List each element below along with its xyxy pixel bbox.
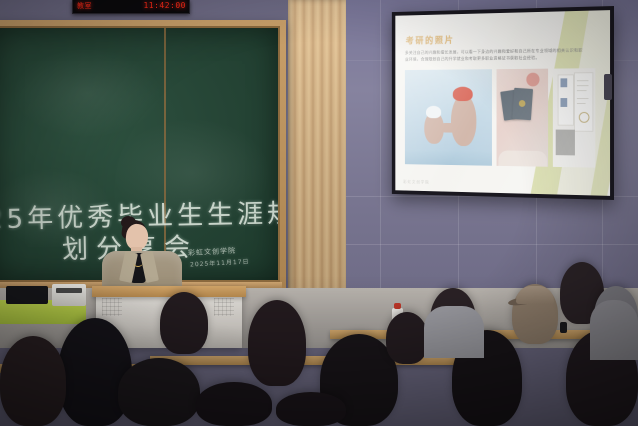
led-ticker-display: 教室 11:42:00 <box>72 0 190 14</box>
screen-wall-mount <box>604 74 612 100</box>
gray-sweater <box>424 306 484 358</box>
photo-certificates <box>497 69 549 167</box>
student-dark-front-left <box>118 358 200 426</box>
blackboard-signature: 彩虹文创学院 <box>188 246 236 258</box>
student-center-back <box>160 292 208 354</box>
slide-title: 考研的照片 <box>406 33 455 46</box>
student-ponytail-center <box>248 300 306 386</box>
student-ponytail-left <box>0 336 66 426</box>
baseball-cap <box>516 286 554 304</box>
blackboard-date: 2025年11月17日 <box>190 256 250 268</box>
slide-watermark: 彩虹文创学院 <box>403 179 429 185</box>
lecture-hall-photo: 教室 11:42:00 25年优秀毕业生生涯规 划分享会 彩虹文创学院 2025… <box>0 0 638 426</box>
projector-screen-frame: 考研的照片 多关注自己的兴趣和擅长发展，可以看一下身边的兴趣和爱好和自己所在专业… <box>392 6 614 200</box>
student-mid-right <box>386 312 428 364</box>
slide-body-text: 多关注自己的兴趣和擅长发展，可以看一下身边的兴趣和爱好和自己所在专业领域的相关认… <box>405 46 586 62</box>
gray-hoodie <box>590 300 638 360</box>
photo-documents <box>553 68 595 167</box>
wood-slat-panel <box>288 0 346 300</box>
lectern-top <box>92 286 246 297</box>
led-time: 11:42:00 <box>143 1 186 11</box>
monitor <box>6 286 48 304</box>
projected-slide: 考研的照片 多关注自己的兴趣和擅长发展，可以看一下身边的兴趣和爱好和自己所在专业… <box>395 10 610 196</box>
led-label: 教室 <box>77 1 92 11</box>
student-bottom-left <box>196 382 272 426</box>
desk-microphone-3 <box>560 322 567 333</box>
printer <box>52 284 86 306</box>
necklace <box>133 258 143 267</box>
photo-swimming-pool <box>405 69 492 166</box>
slide-photo-row <box>405 68 595 167</box>
student-bottom-mid <box>276 392 346 426</box>
